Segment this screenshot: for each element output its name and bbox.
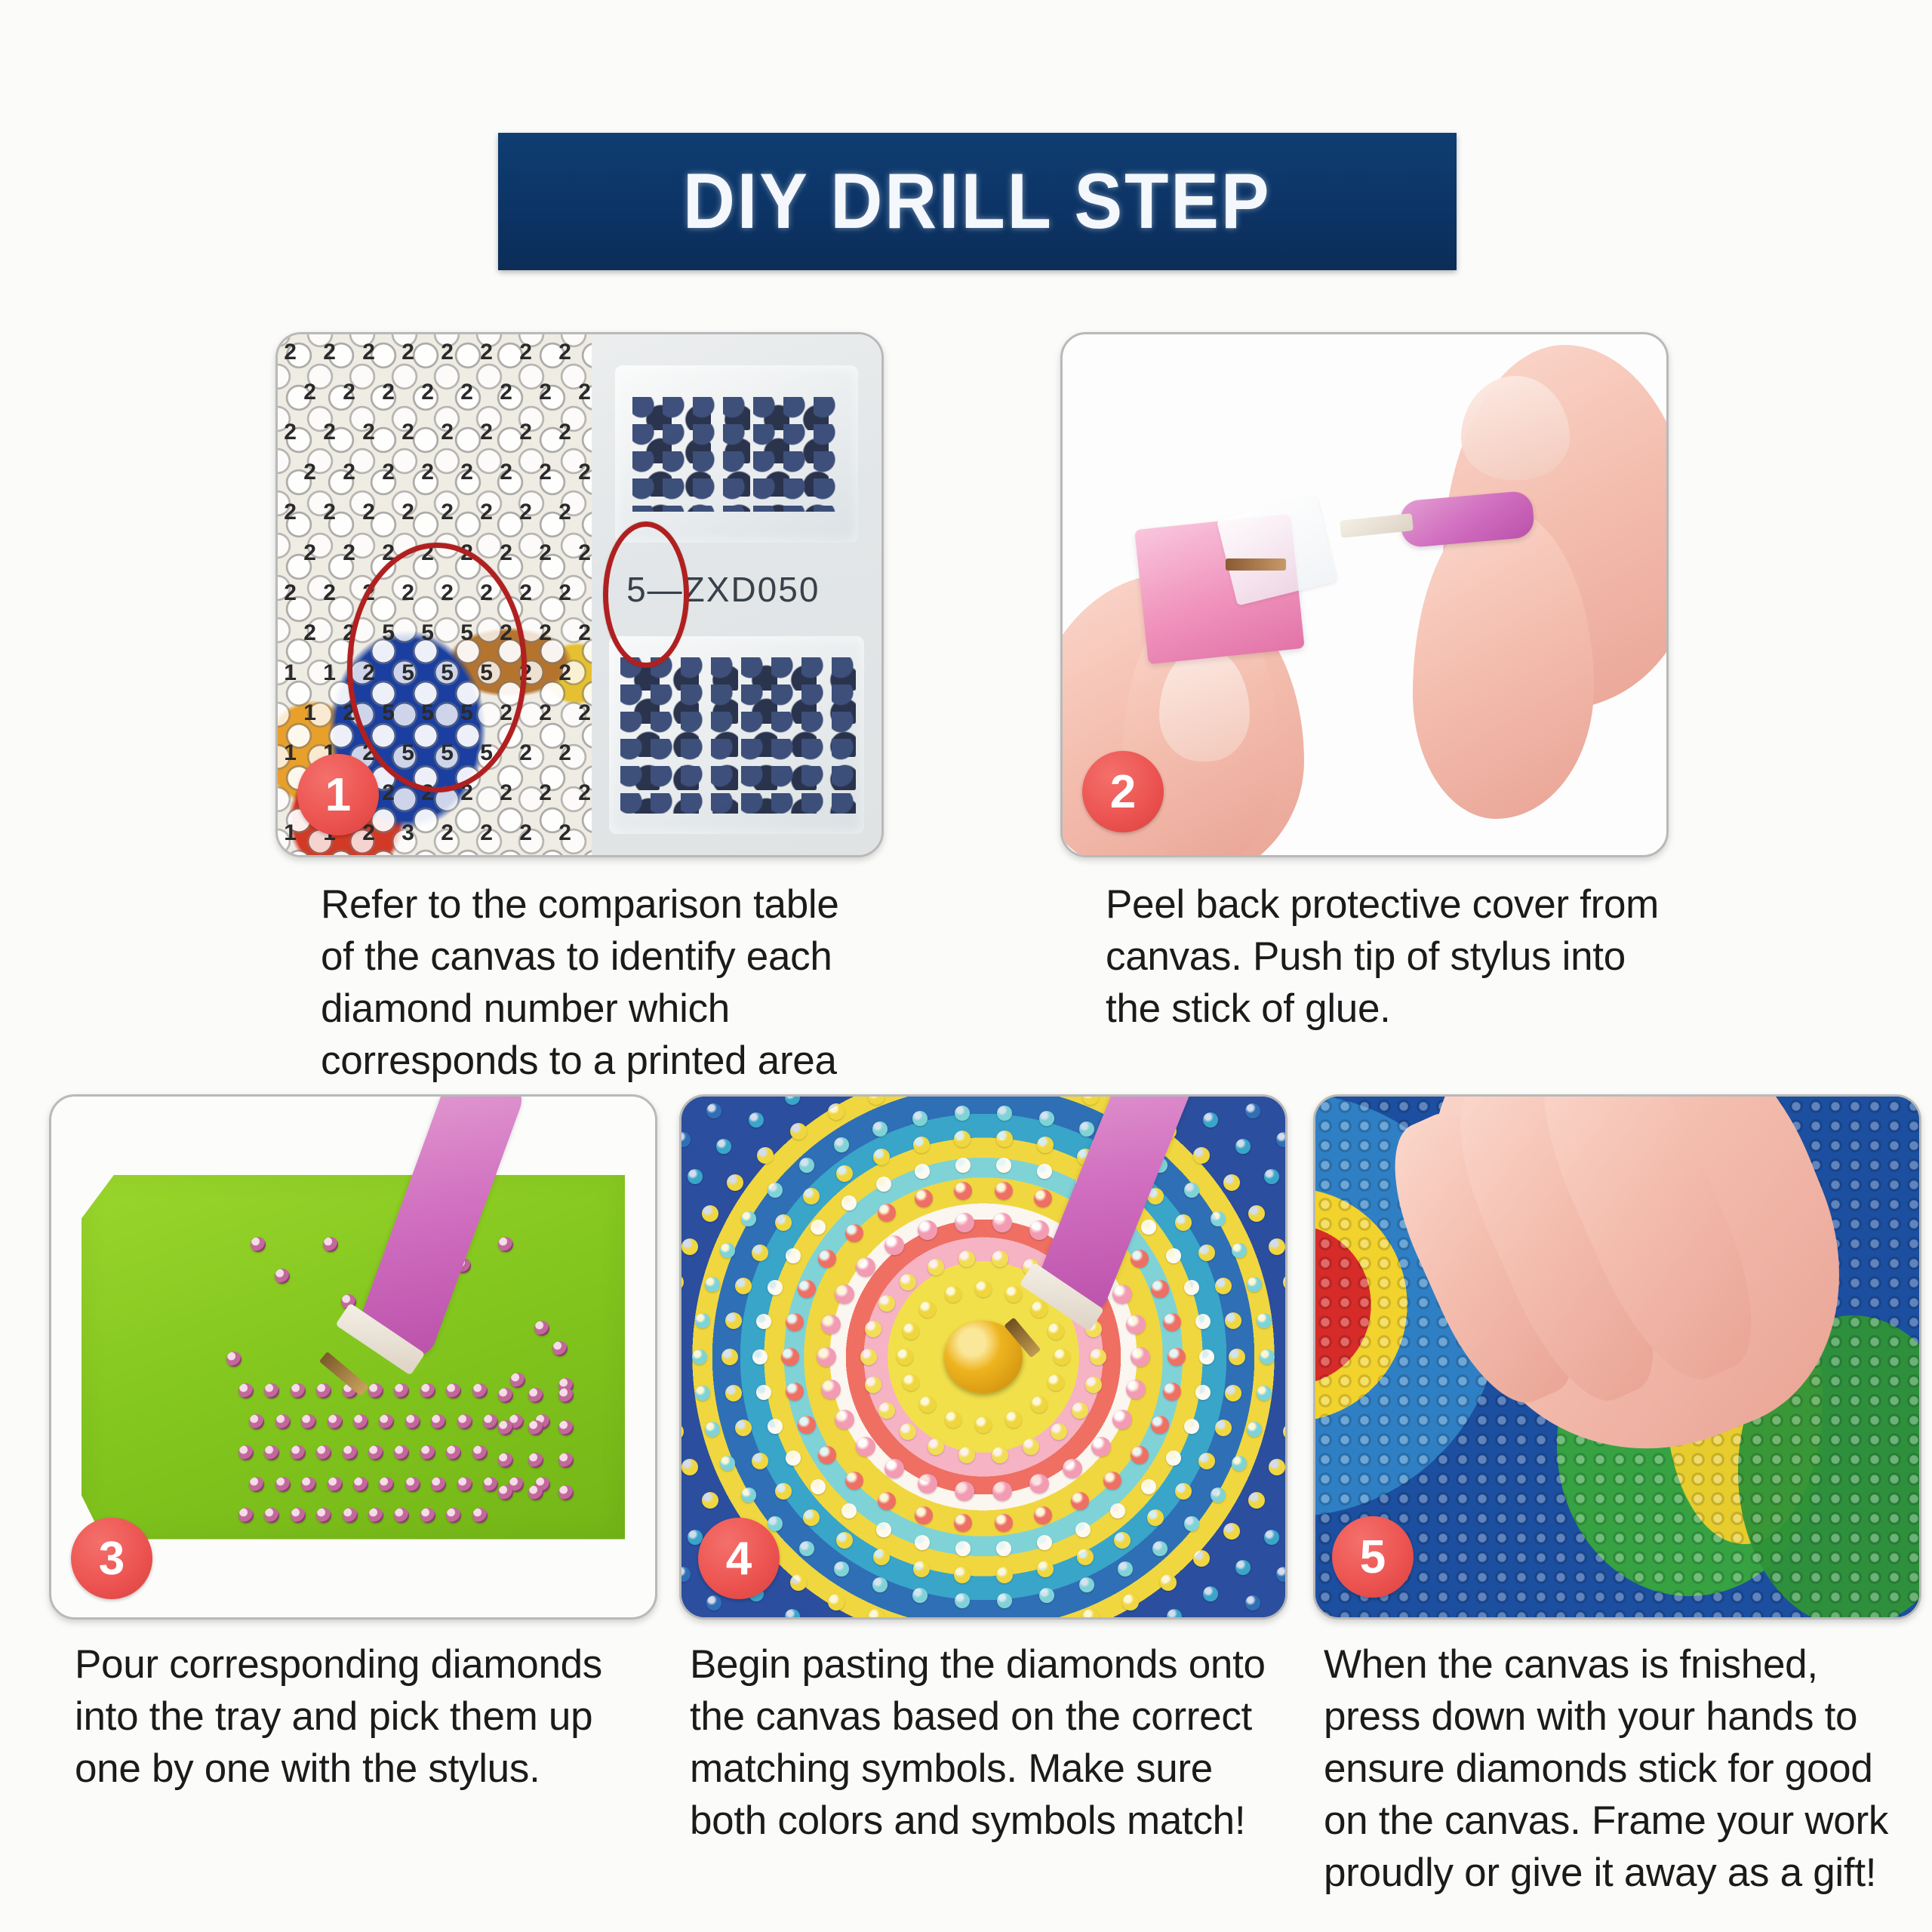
canvas-number: 2 <box>284 500 297 525</box>
canvas-number: 2 <box>539 540 552 566</box>
diamond-bead <box>328 1414 343 1429</box>
diamond-bead <box>446 1383 461 1398</box>
diamond-bead <box>472 1508 488 1523</box>
canvas-number: 2 <box>382 380 395 405</box>
canvas-number: 2 <box>441 420 454 445</box>
page-title: DIY DRILL STEP <box>683 157 1271 247</box>
diamond-bag-bottom-beads <box>620 657 858 814</box>
canvas-number: 3 <box>401 820 414 846</box>
canvas-number: 2 <box>480 420 493 445</box>
canvas-number: 2 <box>284 420 297 445</box>
diamond-bag-top-beads <box>632 397 841 512</box>
glue-protective-cover <box>1217 495 1337 606</box>
canvas-number: 2 <box>558 660 571 686</box>
canvas-number: 2 <box>500 540 512 566</box>
diamond-bead <box>368 1445 383 1460</box>
diamond-bead <box>264 1445 279 1460</box>
step-badge-3: 3 <box>71 1518 152 1599</box>
diamond-bead <box>420 1383 435 1398</box>
diamond-bead <box>528 1420 543 1435</box>
diamond-bead <box>510 1373 525 1388</box>
canvas-number: 2 <box>460 380 473 405</box>
canvas-number: 2 <box>303 380 316 405</box>
canvas-number: 2 <box>323 500 336 525</box>
canvas-number: 2 <box>539 620 552 646</box>
diamond-bead <box>446 1445 461 1460</box>
canvas-number: 2 <box>519 340 532 365</box>
diamond-bead <box>420 1508 435 1523</box>
diamond-bead <box>368 1383 383 1398</box>
diamond-bead <box>405 1477 420 1492</box>
canvas-number: 2 <box>401 420 414 445</box>
canvas-number: 2 <box>480 500 493 525</box>
step-caption-5: When the canvas is fnished, press down w… <box>1324 1639 1927 1899</box>
step-2-image-frame: 2 <box>1060 332 1669 857</box>
step-3-image-frame: 3 <box>49 1094 657 1620</box>
diamond-bead <box>316 1445 331 1460</box>
diamond-bags-region: 5—ZXD050 <box>592 334 881 855</box>
diamond-bead <box>394 1383 409 1398</box>
step-badge-1: 1 <box>297 754 379 835</box>
canvas-number: 2 <box>519 820 532 846</box>
diamond-bead <box>420 1445 435 1460</box>
diamond-bead <box>238 1383 254 1398</box>
diamond-bead <box>238 1445 254 1460</box>
diamond-bead <box>316 1383 331 1398</box>
diamond-bead <box>457 1477 472 1492</box>
canvas-number: 2 <box>500 460 512 485</box>
step-4-image-frame: 4 <box>679 1094 1287 1620</box>
canvas-number: 2 <box>401 500 414 525</box>
canvas-number: 2 <box>323 340 336 365</box>
canvas-number: 1 <box>284 820 297 846</box>
diamond-bead <box>472 1383 488 1398</box>
canvas-number: 2 <box>421 460 434 485</box>
diamond-bead <box>558 1453 574 1468</box>
step-badge-2: 2 <box>1082 751 1164 832</box>
diamond-bead <box>498 1485 513 1500</box>
diamond-bead <box>238 1508 254 1523</box>
canvas-number: 1 <box>284 740 297 766</box>
step-caption-4: Begin pasting the diamonds onto the canv… <box>690 1639 1294 1847</box>
canvas-number: 1 <box>303 700 316 726</box>
canvas-number: 2 <box>323 580 336 606</box>
canvas-number: 2 <box>480 340 493 365</box>
diamond-bead <box>528 1485 543 1500</box>
diamond-bead <box>251 1237 266 1252</box>
canvas-number: 2 <box>362 340 375 365</box>
diamond-bead <box>291 1445 306 1460</box>
canvas-number: 2 <box>519 740 532 766</box>
diamond-bead <box>431 1477 446 1492</box>
canvas-number: 2 <box>519 500 532 525</box>
bag-label-highlight-ellipse <box>603 521 689 667</box>
diamond-bead <box>291 1383 306 1398</box>
canvas-number: 2 <box>519 420 532 445</box>
diamond-bead <box>249 1477 264 1492</box>
diamond-bead <box>379 1414 394 1429</box>
diamond-bead <box>457 1414 472 1429</box>
diamond-bead <box>498 1420 513 1435</box>
diamond-bead <box>323 1237 338 1252</box>
canvas-number: 2 <box>578 780 591 806</box>
canvas-number: 2 <box>303 540 316 566</box>
canvas-number: 2 <box>382 780 395 806</box>
diamond-bead <box>431 1414 446 1429</box>
canvas-number: 2 <box>460 460 473 485</box>
diamond-bead <box>316 1508 331 1523</box>
canvas-number: 2 <box>343 380 355 405</box>
diamond-bead <box>498 1237 513 1252</box>
step-caption-3: Pour corresponding diamonds into the tra… <box>75 1639 671 1795</box>
diamond-bead <box>226 1352 241 1367</box>
diamond-bead <box>558 1485 574 1500</box>
step-badge-4: 4 <box>698 1518 780 1599</box>
canvas-number: 2 <box>539 380 552 405</box>
diamond-bead <box>291 1508 306 1523</box>
diamond-bead <box>379 1477 394 1492</box>
step-1-image-frame: 2222222222222222222222222222222222222222… <box>275 332 884 857</box>
diamond-bead <box>275 1477 291 1492</box>
diamond-bead <box>394 1508 409 1523</box>
canvas-number: 2 <box>578 540 591 566</box>
diamond-bead <box>558 1388 574 1403</box>
canvas-number: 2 <box>421 380 434 405</box>
canvas-number: 2 <box>539 700 552 726</box>
diamond-bead <box>353 1414 368 1429</box>
diamond-bead <box>394 1445 409 1460</box>
canvas-number: 2 <box>401 340 414 365</box>
canvas-number: 2 <box>500 780 512 806</box>
canvas-number: 2 <box>578 700 591 726</box>
canvas-number: 2 <box>441 500 454 525</box>
canvas-number: 2 <box>558 340 571 365</box>
canvas-number: 2 <box>539 780 552 806</box>
title-banner: DIY DRILL STEP <box>498 133 1457 270</box>
diamond-bead <box>528 1388 543 1403</box>
step-badge-5: 5 <box>1332 1516 1414 1598</box>
diamond-bead <box>498 1388 513 1403</box>
canvas-number: 2 <box>578 620 591 646</box>
canvas-number: 2 <box>558 740 571 766</box>
canvas-number: 2 <box>284 340 297 365</box>
diamond-bead <box>264 1383 279 1398</box>
diamond-bead <box>446 1508 461 1523</box>
diamond-bead <box>301 1477 316 1492</box>
canvas-number: 2 <box>558 820 571 846</box>
canvas-number: 2 <box>558 500 571 525</box>
canvas-number: 2 <box>382 460 395 485</box>
canvas-number: 1 <box>284 660 297 686</box>
diamond-bead <box>343 1508 358 1523</box>
diamond-bead <box>528 1453 543 1468</box>
canvas-number: 2 <box>558 420 571 445</box>
diamond-bead <box>405 1414 420 1429</box>
diamond-bead <box>353 1477 368 1492</box>
diamond-bead <box>275 1269 290 1284</box>
diamond-bead <box>472 1445 488 1460</box>
canvas-number: 2 <box>500 380 512 405</box>
diamond-bead <box>558 1420 574 1435</box>
glue-slot <box>1226 558 1286 571</box>
canvas-number: 2 <box>441 340 454 365</box>
canvas-number: 2 <box>343 540 355 566</box>
diamond-bead <box>534 1321 549 1336</box>
canvas-number: 2 <box>323 420 336 445</box>
diamond-bead <box>328 1477 343 1492</box>
step-caption-2: Peel back protective cover from canvas. … <box>1106 879 1687 1035</box>
canvas-number: 2 <box>539 460 552 485</box>
canvas-number: 2 <box>480 820 493 846</box>
diamond-bead <box>368 1508 383 1523</box>
diamond-bead <box>552 1341 568 1356</box>
canvas-number: 2 <box>303 620 316 646</box>
step-5-image-frame: 5 <box>1313 1094 1921 1620</box>
canvas-number: 2 <box>441 820 454 846</box>
diamond-bead <box>301 1414 316 1429</box>
canvas-number: 2 <box>303 460 316 485</box>
diamond-bead <box>498 1453 513 1468</box>
diamond-bead <box>264 1508 279 1523</box>
diamond-bead <box>249 1414 264 1429</box>
diamond-bead <box>343 1445 358 1460</box>
canvas-number: 2 <box>578 380 591 405</box>
diamond-bead <box>483 1414 498 1429</box>
canvas-number: 2 <box>362 500 375 525</box>
canvas-number: 2 <box>519 580 532 606</box>
diamond-bead <box>483 1477 498 1492</box>
canvas-highlight-ellipse <box>347 543 528 792</box>
canvas-number: 2 <box>362 420 375 445</box>
canvas-number: 2 <box>558 580 571 606</box>
canvas-number: 2 <box>578 460 591 485</box>
diamond-bead <box>275 1414 291 1429</box>
canvas-number: 1 <box>323 660 336 686</box>
canvas-number: 2 <box>284 580 297 606</box>
canvas-number: 2 <box>343 460 355 485</box>
